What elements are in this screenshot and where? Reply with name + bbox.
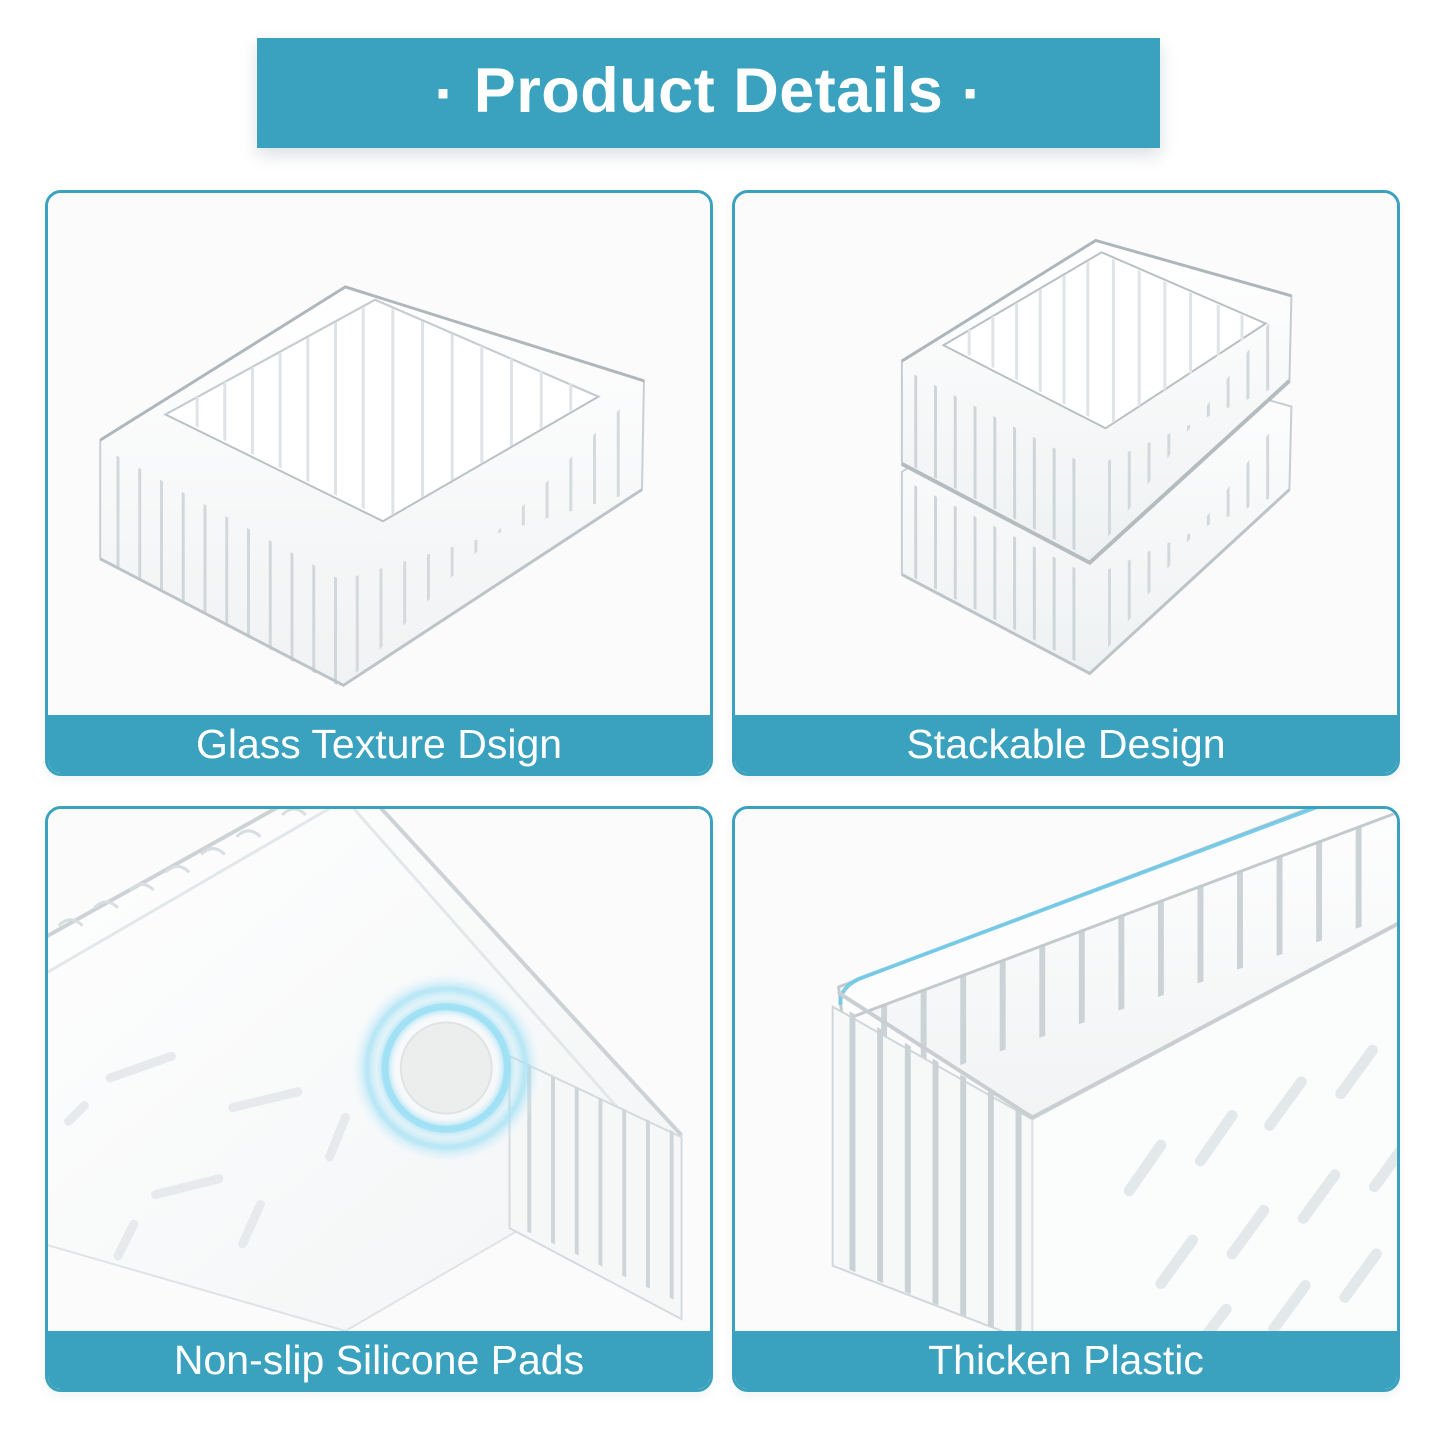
feature-card-image-non-slip-pads: [48, 809, 710, 1331]
feature-label-text: Non-slip Silicone Pads: [174, 1340, 584, 1381]
feature-card-stackable[interactable]: Stackable Design: [732, 190, 1400, 776]
page-title-text: Product Details: [474, 56, 944, 126]
page-title: · Product Details ·: [434, 60, 983, 127]
feature-card-non-slip-pads[interactable]: Non-slip Silicone Pads: [45, 806, 713, 1392]
feature-card-image-thicken-plastic: [735, 809, 1397, 1331]
thick-rim-icon: [735, 809, 1397, 1331]
feature-card-label-stackable: Stackable Design: [735, 715, 1397, 773]
product-details-infographic: · Product Details ·: [0, 0, 1445, 1445]
feature-card-grid: Glass Texture Dsign: [45, 190, 1400, 1422]
title-left-dot-icon: ·: [434, 63, 455, 126]
feature-card-label-glass-texture: Glass Texture Dsign: [48, 715, 710, 773]
header-banner: · Product Details ·: [257, 38, 1160, 148]
feature-card-label-non-slip-pads: Non-slip Silicone Pads: [48, 1331, 710, 1389]
feature-card-image-stackable: [735, 193, 1397, 715]
feature-card-label-thicken-plastic: Thicken Plastic: [735, 1331, 1397, 1389]
feature-card-glass-texture[interactable]: Glass Texture Dsign: [45, 190, 713, 776]
ribbed-square-bin-icon: [48, 193, 710, 715]
silicone-pad-icon: [48, 809, 710, 1331]
feature-card-thicken-plastic[interactable]: Thicken Plastic: [732, 806, 1400, 1392]
feature-card-image-glass-texture: [48, 193, 710, 715]
feature-label-text: Glass Texture Dsign: [196, 724, 562, 765]
feature-label-text: Stackable Design: [906, 724, 1225, 765]
title-right-dot-icon: ·: [961, 63, 982, 126]
stacked-bins-icon: [735, 193, 1397, 715]
feature-label-text: Thicken Plastic: [928, 1340, 1204, 1381]
